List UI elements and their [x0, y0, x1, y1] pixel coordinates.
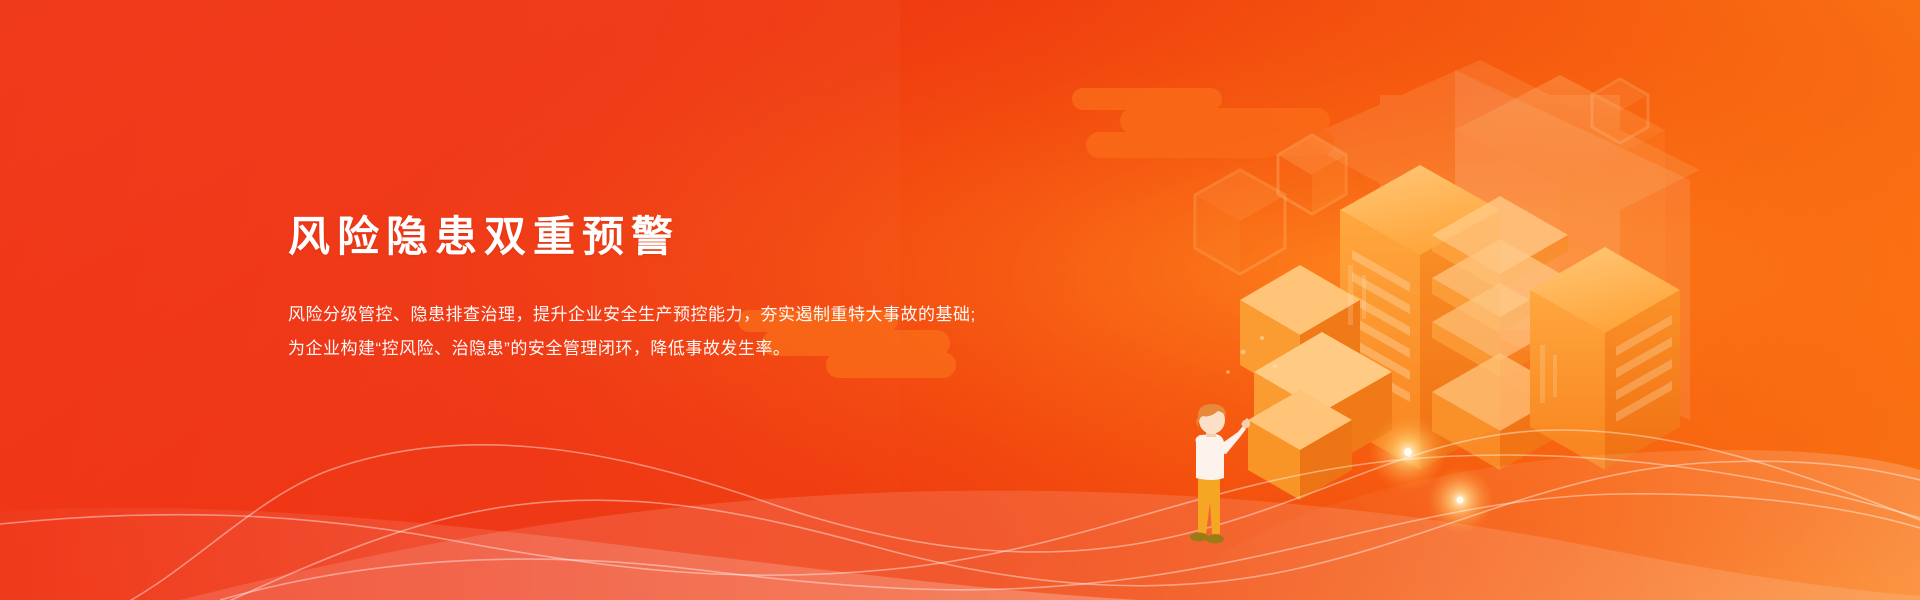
subtitle-line-1: 风险分级管控、隐患排查治理，提升企业安全生产预控能力，夯实遏制重特大事故的基础;: [288, 298, 976, 332]
hero-banner: 风险隐患双重预警 风险分级管控、隐患排查治理，提升企业安全生产预控能力，夯实遏制…: [0, 0, 1920, 600]
page-title: 风险隐患双重预警: [288, 216, 976, 258]
subtitle-line-2: 为企业构建“控风险、治隐患”的安全管理闭环，降低事故发生率。: [288, 332, 976, 366]
person-illustration: [1176, 398, 1256, 548]
banner-copy: 风险隐患双重预警 风险分级管控、隐患排查治理，提升企业安全生产预控能力，夯实遏制…: [288, 216, 976, 366]
